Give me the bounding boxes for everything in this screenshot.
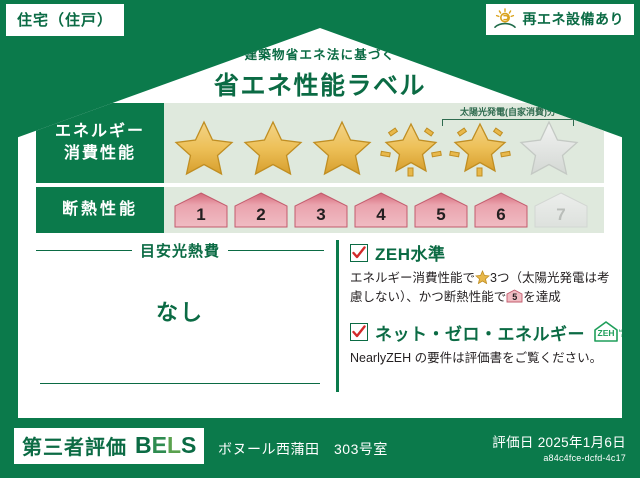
page-title: 省エネ性能ラベル	[18, 66, 622, 102]
insulation-level-1: 1	[172, 190, 230, 230]
star-empty-6	[515, 116, 583, 178]
third-party-evaluation-label: 第三者評価	[22, 431, 127, 460]
utility-cost-bottom-rule	[40, 383, 320, 385]
footer-bar: 第三者評価 BELS ボヌール西蒲田 303号室 評価日 2025年1月6日 a…	[0, 418, 640, 478]
zeh-standard-heading: ZEH水準	[350, 240, 634, 265]
bels-letter-b: B	[135, 432, 152, 458]
performance-rows: エネルギー 消費性能 太陽光発電(自家消費)分	[36, 103, 604, 237]
evaluation-id: a84c4fce-dcfd-4c17	[492, 453, 626, 463]
svg-text:ZEH: ZEH	[598, 328, 615, 338]
star-filled-solar-4	[377, 116, 445, 178]
energy-stars-panel: 太陽光発電(自家消費)分	[164, 103, 604, 183]
energy-label-line1: エネルギー	[55, 121, 145, 143]
renewable-energy-label: 再エネ設備あり	[523, 9, 625, 29]
zeh-section: ZEH水準 エネルギー消費性能で3つ（太陽光発電は考慮しない）、かつ断熱性能で5…	[336, 238, 634, 410]
heading-rule-right	[228, 250, 324, 252]
insulation-level-4-number: 4	[352, 205, 410, 225]
net-zero-energy-title: ネット・ゼロ・エネルギー	[375, 320, 585, 345]
title-block: 建築物省エネ法に基づく 省エネ性能ラベル	[18, 44, 622, 102]
insulation-level-5: 5	[412, 190, 470, 230]
star-filled-2	[239, 116, 307, 178]
net-zero-energy-block: ネット・ゼロ・エネルギー ZEH Nearly ZEH NearlyZEH の要…	[350, 320, 634, 368]
energy-label-line2: 消費性能	[64, 143, 136, 165]
energy-performance-row: エネルギー 消費性能 太陽光発電(自家消費)分	[36, 103, 604, 183]
insulation-level-3-number: 3	[292, 205, 350, 225]
insulation-performance-label: 断熱性能	[36, 187, 164, 233]
dwelling-type-badge: 住宅（住戸）	[6, 4, 124, 36]
bels-letter-e: E	[152, 432, 167, 458]
zeh-desc-part3: を達成	[523, 290, 561, 304]
insulation-level-2-number: 2	[232, 205, 290, 225]
insulation-level-2: 2	[232, 190, 290, 230]
star-filled-solar-5	[446, 116, 514, 178]
star-filled-1	[170, 116, 238, 178]
bels-letter-l: L	[167, 432, 181, 458]
title-subtitle: 建築物省エネ法に基づく	[18, 44, 622, 63]
utility-cost-section: 目安光熱費 なし	[36, 238, 336, 410]
insulation-level-4: 4	[352, 190, 410, 230]
heading-rule-left	[36, 250, 132, 252]
utility-cost-value: なし	[36, 295, 324, 327]
svg-text:ZEH: ZEH	[621, 333, 629, 338]
insulation-level-6: 6	[472, 190, 530, 230]
house-level-icon-number: 5	[506, 291, 523, 305]
bels-plate: 第三者評価 BELS	[14, 428, 204, 464]
insulation-level-7-number: 7	[532, 205, 590, 225]
house-level-icon: 5	[506, 289, 523, 303]
net-zero-energy-description: NearlyZEH の要件は評価書をご覧ください。	[350, 349, 618, 368]
net-zero-energy-heading: ネット・ゼロ・エネルギー ZEH Nearly ZEH	[350, 320, 634, 345]
zeh-nearly-logo-icon: ZEH Nearly ZEH	[592, 320, 634, 344]
star-icon	[475, 270, 490, 284]
utility-cost-title: 目安光熱費	[140, 240, 220, 261]
energy-performance-label: エネルギー 消費性能	[36, 103, 164, 183]
insulation-level-7: 7	[532, 190, 590, 230]
lower-section: 目安光熱費 なし ZEH水準 エネルギー消費性能で3つ（太陽光発電は考慮しない）…	[36, 238, 604, 410]
insulation-level-5-number: 5	[412, 205, 470, 225]
insulation-level-1-number: 1	[172, 205, 230, 225]
renewable-energy-badge: 再エネ設備あり	[486, 4, 635, 35]
dwelling-type-label: 住宅（住戸）	[17, 12, 113, 29]
sun-solar-icon	[492, 8, 518, 30]
building-name: ボヌール西蒲田 303号室	[218, 439, 388, 459]
bels-letter-s: S	[181, 432, 196, 458]
insulation-level-scale: 1 2 3 4 5	[170, 190, 590, 230]
insulation-performance-row: 断熱性能 1 2 3	[36, 187, 604, 233]
zeh-standard-title: ZEH水準	[375, 240, 446, 265]
zeh-standard-block: ZEH水準 エネルギー消費性能で3つ（太陽光発電は考慮しない）、かつ断熱性能で5…	[350, 240, 634, 308]
utility-cost-heading: 目安光熱費	[36, 240, 324, 261]
evaluation-date: 評価日 2025年1月6日	[492, 431, 626, 451]
bels-logo: BELS	[135, 432, 196, 459]
insulation-level-6-number: 6	[472, 205, 530, 225]
star-rating	[170, 108, 583, 178]
star-filled-3	[308, 116, 376, 178]
zeh-standard-description: エネルギー消費性能で3つ（太陽光発電は考慮しない）、かつ断熱性能で5を達成	[350, 269, 618, 308]
section-divider	[336, 240, 339, 392]
zeh-standard-checkbox[interactable]	[350, 244, 368, 262]
label-card: 建築物省エネ法に基づく 省エネ性能ラベル エネルギー 消費性能 太陽光発電(自家…	[18, 28, 622, 418]
zeh-desc-part1: エネルギー消費性能で	[350, 271, 475, 285]
insulation-level-3: 3	[292, 190, 350, 230]
evaluation-info: 評価日 2025年1月6日 a84c4fce-dcfd-4c17	[492, 431, 626, 463]
insulation-levels-panel: 1 2 3 4 5	[164, 187, 604, 233]
net-zero-energy-checkbox[interactable]	[350, 323, 368, 341]
